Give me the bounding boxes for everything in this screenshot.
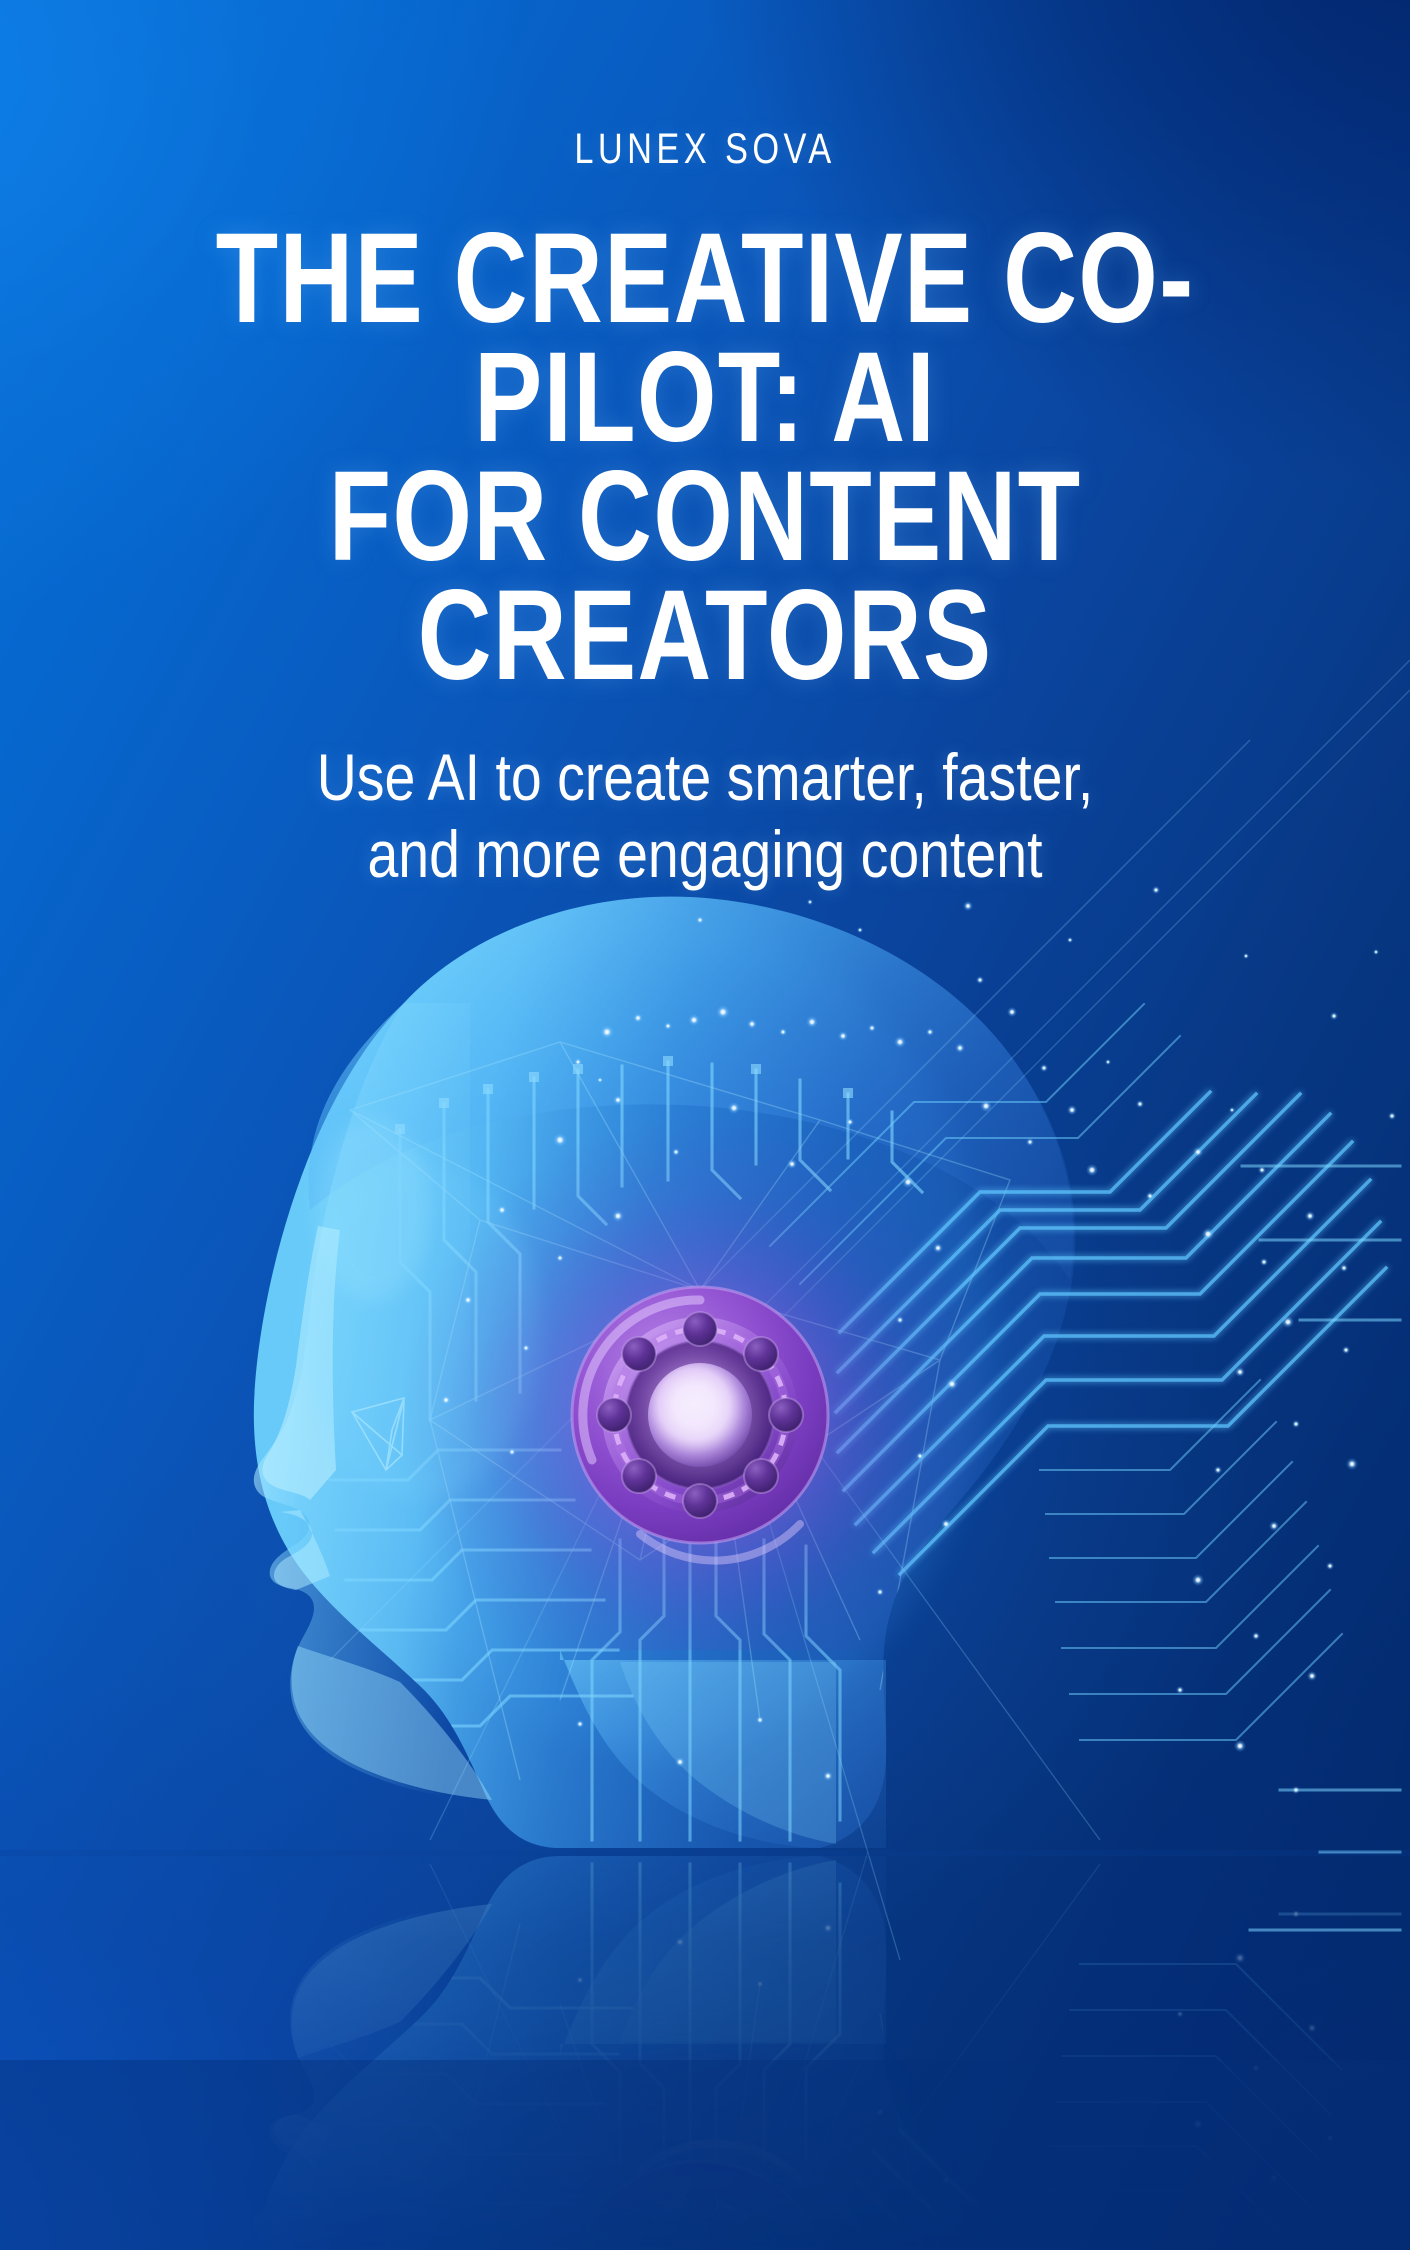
tagline-line-1: Use AI to create smarter, faster, — [113, 739, 1297, 816]
subtitle-tagline: Use AI to create smarter, faster, and mo… — [113, 695, 1297, 892]
title-line-2: FOR CONTENT CREATORS — [141, 457, 1269, 695]
book-cover: LUNEX SOVA THE CREATIVE CO-PILOT: AI FOR… — [0, 0, 1410, 2250]
tagline-line-2: and more engaging content — [113, 816, 1297, 893]
cover-text-block: LUNEX SOVA THE CREATIVE CO-PILOT: AI FOR… — [0, 0, 1410, 892]
author-name: LUNEX SOVA — [141, 0, 1269, 171]
title-line-1: THE CREATIVE CO-PILOT: AI — [141, 171, 1269, 457]
page-title: THE CREATIVE CO-PILOT: AI FOR CONTENT CR… — [141, 171, 1269, 695]
